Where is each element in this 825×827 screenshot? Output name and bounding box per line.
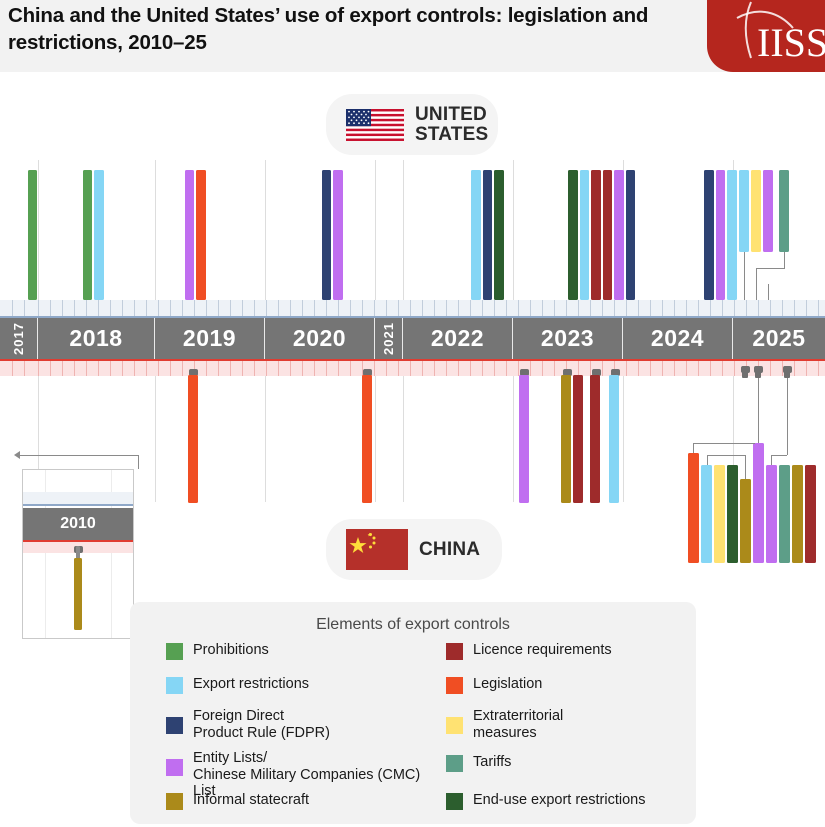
legend-label: Tariffs xyxy=(473,754,511,771)
inset-bar-china-informal-2010 xyxy=(74,558,82,630)
legend-item-prohibitions[interactable]: Prohibitions xyxy=(166,642,269,660)
year-separator xyxy=(265,160,266,300)
leader-line xyxy=(787,369,788,455)
bar-china-export-restrictions-2024 xyxy=(701,465,712,563)
year-separator xyxy=(375,372,376,502)
bar-china-entity-lists-2025-a xyxy=(753,443,764,563)
year-separator xyxy=(623,372,624,502)
legend-label: Legislation xyxy=(473,676,542,693)
bar-pin xyxy=(784,366,790,378)
bar-us-prohibitions-2018 xyxy=(83,170,92,300)
bar-china-legislation-2024 xyxy=(688,453,699,563)
bar-us-entity-lists-2023 xyxy=(614,170,624,300)
legend-swatch-enduse-export-restrictions xyxy=(446,793,463,810)
bar-us-entity-lists-2025 xyxy=(763,170,773,252)
legend-label: Prohibitions xyxy=(193,642,269,659)
legend-item-licence-requirements[interactable]: Licence requirements xyxy=(446,642,612,660)
bar-us-legislation-2019 xyxy=(196,170,206,300)
legend-swatch-licence-requirements xyxy=(446,643,463,660)
legend-label: Foreign Direct Product Rule (FDPR) xyxy=(193,708,330,741)
year-separator xyxy=(403,372,404,502)
axis-cell-2023: 2023 xyxy=(513,318,623,359)
inset-callout-line xyxy=(138,455,139,469)
axis-cell-2018: 2018 xyxy=(38,318,155,359)
bar-us-export-restrictions-2025 xyxy=(739,170,749,252)
us-tick-band xyxy=(0,300,825,318)
bar-us-licence-2023-a xyxy=(591,170,601,300)
legend-swatch-prohibitions xyxy=(166,643,183,660)
leader-line xyxy=(771,455,787,456)
bar-china-entity-lists-2025-b xyxy=(766,465,777,563)
bar-us-enduse-2023 xyxy=(568,170,578,300)
bar-us-export-restrictions-2023 xyxy=(580,170,589,300)
bar-china-export-restrictions-2023 xyxy=(609,375,619,503)
legend-swatch-legislation xyxy=(446,677,463,694)
inset-us-band xyxy=(23,492,133,506)
bar-us-enduse-2022 xyxy=(494,170,504,300)
bar-us-fdpr-2022 xyxy=(483,170,492,300)
legend: Elements of export controls Prohibitions… xyxy=(130,602,696,824)
leader-line xyxy=(756,268,784,269)
bar-china-informal-2025 xyxy=(792,465,803,563)
leader-line xyxy=(693,443,694,453)
year-separator xyxy=(513,160,514,300)
leader-line xyxy=(756,268,757,300)
leader-line xyxy=(784,252,785,269)
legend-label: Extraterritorial measures xyxy=(473,708,563,741)
leader-line xyxy=(768,284,769,300)
legend-item-informal-statecraft[interactable]: Informal statecraft xyxy=(166,792,309,810)
legend-swatch-extraterritorial-measures xyxy=(446,717,463,734)
bar-us-fdpr-2023 xyxy=(626,170,635,300)
bar-china-informal-2023 xyxy=(561,375,571,503)
legend-title: Elements of export controls xyxy=(130,616,696,634)
year-separator xyxy=(403,160,404,300)
inset-year-label: 2010 xyxy=(60,515,96,533)
leader-line xyxy=(707,455,708,465)
bar-us-export-restrictions-2022 xyxy=(471,170,481,300)
axis-cell-2025: 2025 xyxy=(733,318,825,359)
bar-us-entity-lists-2020 xyxy=(333,170,343,300)
legend-item-fdpr[interactable]: Foreign Direct Product Rule (FDPR) xyxy=(166,708,330,741)
year-separator xyxy=(155,160,156,300)
bar-pin xyxy=(742,366,748,378)
bar-china-licence-2025 xyxy=(805,465,816,563)
axis-cell-2017: 2017 xyxy=(0,318,38,359)
axis-cell-2022: 2022 xyxy=(403,318,513,359)
bar-us-prohibitions-2017 xyxy=(28,170,37,300)
bar-us-tariffs-2025 xyxy=(779,170,789,252)
year-axis: 2017 2018 2019 2020 2021 2022 2023 2024 … xyxy=(0,318,825,359)
legend-label: End-use export restrictions xyxy=(473,792,645,809)
china-tick-band xyxy=(0,359,825,376)
legend-item-tariffs[interactable]: Tariffs xyxy=(446,754,511,772)
inset-year-axis: 2010 xyxy=(23,508,133,540)
bar-china-legislation-2020 xyxy=(362,375,372,503)
bar-china-entity-lists-2022 xyxy=(519,375,529,503)
axis-cell-2021: 2021 xyxy=(375,318,403,359)
legend-swatch-entity-lists xyxy=(166,759,183,776)
legend-swatch-tariffs xyxy=(446,755,463,772)
axis-cell-2019: 2019 xyxy=(155,318,265,359)
bar-china-licence-2023-b xyxy=(590,375,600,503)
bar-china-licence-2023-a xyxy=(573,375,583,503)
inset-2010: 2010 xyxy=(22,469,134,639)
page-title: China and the United States’ use of expo… xyxy=(8,3,698,56)
bar-china-informal-2024 xyxy=(740,479,751,563)
legend-label: Informal statecraft xyxy=(193,792,309,809)
iiss-logo: IISS xyxy=(707,0,825,72)
year-separator xyxy=(38,160,39,300)
bar-us-export-restrictions-2018 xyxy=(94,170,104,300)
bar-us-licence-2023-b xyxy=(603,170,612,300)
year-separator xyxy=(375,160,376,300)
bar-us-entity-lists-2019 xyxy=(185,170,194,300)
legend-label: Export restrictions xyxy=(193,676,309,693)
bar-china-extraterritorial-2024 xyxy=(714,465,725,563)
leader-line xyxy=(758,369,759,443)
year-separator xyxy=(265,372,266,502)
header: China and the United States’ use of expo… xyxy=(0,0,825,72)
bar-pin xyxy=(755,366,761,378)
axis-cell-2020: 2020 xyxy=(265,318,375,359)
legend-swatch-fdpr xyxy=(166,717,183,734)
inset-callout-line xyxy=(20,455,138,456)
leader-line xyxy=(771,455,772,465)
bar-us-export-restrictions-2024 xyxy=(727,170,737,300)
legend-label: Licence requirements xyxy=(473,642,612,659)
leader-line xyxy=(745,455,746,479)
leader-line xyxy=(707,455,745,456)
bar-us-extraterritorial-2025 xyxy=(751,170,761,252)
bar-us-entity-lists-2024 xyxy=(716,170,725,300)
infographic-root: China and the United States’ use of expo… xyxy=(0,0,825,827)
axis-cell-2024: 2024 xyxy=(623,318,733,359)
bar-us-fdpr-2020 xyxy=(322,170,331,300)
year-separator xyxy=(155,372,156,502)
iiss-logo-mark: IISS xyxy=(707,0,825,72)
legend-swatch-export-restrictions xyxy=(166,677,183,694)
bar-china-enduse-2024 xyxy=(727,465,738,563)
legend-item-extraterritorial-measures[interactable]: Extraterritorial measures xyxy=(446,708,563,741)
legend-swatch-informal-statecraft xyxy=(166,793,183,810)
svg-text:IISS: IISS xyxy=(757,20,825,65)
timeline-chart: 2017 2018 2019 2020 2021 2022 2023 2024 … xyxy=(0,72,825,592)
legend-item-export-restrictions[interactable]: Export restrictions xyxy=(166,676,309,694)
bar-china-legislation-2019 xyxy=(188,375,198,503)
bar-china-tariffs-2025 xyxy=(779,465,790,563)
legend-item-enduse-export-restrictions[interactable]: End-use export restrictions xyxy=(446,792,645,810)
year-separator xyxy=(513,372,514,502)
leader-line xyxy=(744,252,745,300)
legend-item-legislation[interactable]: Legislation xyxy=(446,676,542,694)
bar-us-fdpr-2024 xyxy=(704,170,714,300)
leader-line xyxy=(693,443,755,444)
